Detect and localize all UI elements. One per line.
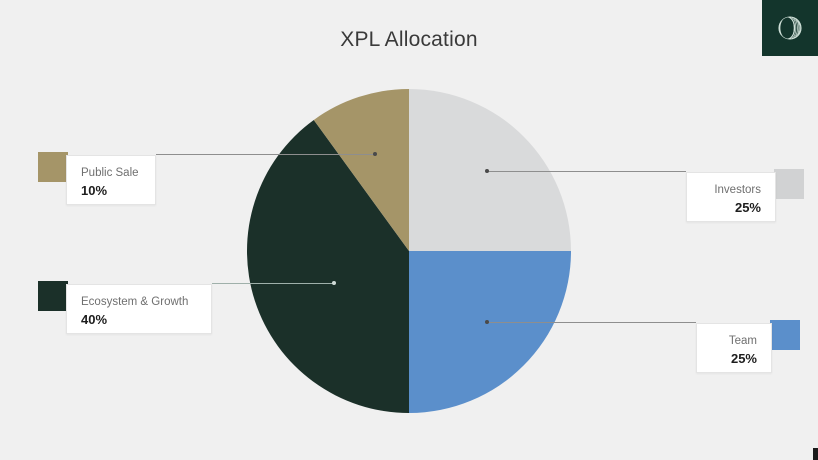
callout-ecosystem[interactable]: Ecosystem & Growth 40%: [66, 284, 212, 334]
leader-line-public-sale: [156, 154, 375, 155]
callout-public-sale[interactable]: Public Sale 10%: [66, 155, 156, 205]
page-title: XPL Allocation: [0, 28, 818, 52]
callout-label-investors: Investors: [701, 182, 761, 199]
leader-dot-ecosystem: [332, 281, 336, 285]
callout-label-team: Team: [711, 333, 757, 350]
legend-swatch-team: [770, 320, 800, 350]
legend-swatch-ecosystem: [38, 281, 68, 311]
legend-swatch-investors: [774, 169, 804, 199]
pie-slice-team[interactable]: [409, 251, 571, 413]
callout-value-public-sale: 10%: [81, 182, 141, 201]
pie-slice-investors[interactable]: [409, 89, 571, 251]
callout-investors[interactable]: Investors 25%: [686, 172, 776, 222]
callout-label-ecosystem: Ecosystem & Growth: [81, 294, 197, 311]
callout-value-investors: 25%: [701, 199, 761, 218]
corner-mark: [813, 448, 818, 460]
callout-team[interactable]: Team 25%: [696, 323, 772, 373]
leader-dot-team: [485, 320, 489, 324]
callout-value-team: 25%: [711, 350, 757, 369]
leader-line-ecosystem: [212, 283, 334, 284]
slide-canvas: XPL Allocation: [0, 0, 818, 460]
leader-dot-investors: [485, 169, 489, 173]
leader-line-team: [487, 322, 696, 323]
legend-swatch-public-sale: [38, 152, 68, 182]
callout-label-public-sale: Public Sale: [81, 165, 141, 182]
brand-logo: [762, 0, 818, 56]
pie-chart-svg: [246, 88, 572, 414]
sphere-logo-icon: [775, 13, 805, 43]
pie-chart: [246, 88, 572, 414]
leader-line-investors: [487, 171, 686, 172]
leader-dot-public-sale: [373, 152, 377, 156]
callout-value-ecosystem: 40%: [81, 311, 197, 330]
